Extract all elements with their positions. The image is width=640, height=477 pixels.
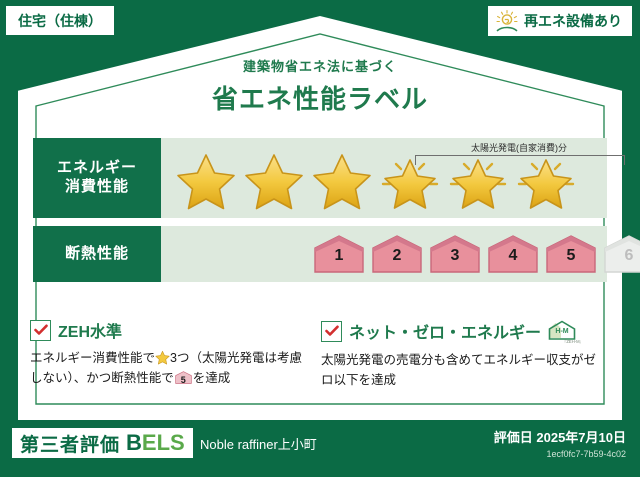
criterion-net-zero-header: ネット・ゼロ・エネルギー H-M 『ZEH-M』 <box>321 318 602 344</box>
criterion-zeh-title: ZEH水準 <box>58 318 122 342</box>
insulation-levels-body: 1 2 3 <box>161 226 640 282</box>
insulation-label-line1: 断熱性能 <box>65 245 129 264</box>
energy-performance-row: エネルギー 消費性能 太陽光発電(自家消費)分 <box>33 138 607 218</box>
insulation-level-badge: 2 <box>371 234 423 274</box>
check-icon <box>30 320 51 341</box>
energy-performance-label-box: エネルギー 消費性能 <box>33 138 161 218</box>
star-filled <box>243 151 305 211</box>
insulation-level-number: 1 <box>313 247 365 265</box>
energy-stars-body: 太陽光発電(自家消費)分 <box>161 138 607 218</box>
bels-els: ELS <box>142 430 185 455</box>
evaluation-date-label: 評価日 <box>494 430 533 445</box>
third-party-label: 第三者評価 <box>20 430 120 457</box>
criterion-zeh-text-pre: エネルギー消費性能で <box>30 351 155 365</box>
criterion-net-zero-title: ネット・ゼロ・エネルギー <box>349 319 541 343</box>
inline-badge-value: 5 <box>175 373 192 388</box>
check-icon <box>321 321 342 342</box>
criterion-zeh-header: ZEH水準 <box>30 318 311 342</box>
building-name: Noble raffiner上小町 <box>200 434 317 453</box>
inline-insulation-badge: 5 <box>175 370 192 385</box>
insulation-level-number: 4 <box>487 247 539 265</box>
evaluation-date-value: 2025年7月10日 <box>536 430 626 445</box>
insulation-level-badge: 6 <box>603 234 640 274</box>
title-main: 省エネ性能ラベル <box>0 79 640 116</box>
criterion-net-zero-body: 太陽光発電の売電分も含めてエネルギー収支がゼロ以下を達成 <box>321 350 602 391</box>
star-rating <box>161 151 577 211</box>
insulation-level-badge: 5 <box>545 234 597 274</box>
bels-wordmark: BELS <box>126 430 185 456</box>
renewable-badge-label: 再エネ設備あり <box>524 11 622 31</box>
evaluation-date: 評価日 2025年7月10日 <box>494 427 626 446</box>
footer-bar: 第三者評価 BELS Noble raffiner上小町 評価日 2025年7月… <box>0 420 640 477</box>
insulation-level-badge: 1 <box>313 234 365 274</box>
insulation-level-number: 3 <box>429 247 481 265</box>
category-tag: 住宅（住棟） <box>6 6 114 35</box>
energy-label-line2: 消費性能 <box>65 178 129 197</box>
sun-icon <box>494 9 520 33</box>
bels-logo: 第三者評価 BELS <box>12 428 193 458</box>
energy-performance-label: 住宅（住棟） 再エネ設備あり 建築物省エネ法に基づく <box>0 0 640 477</box>
criterion-zeh-text-post: を達成 <box>193 371 231 385</box>
zeh-m-house-icon: H-M 『ZEH-M』 <box>543 318 581 344</box>
svg-text:『ZEH-M』: 『ZEH-M』 <box>562 338 581 344</box>
title-subtitle: 建築物省エネ法に基づく <box>0 56 640 75</box>
insulation-level-scale: 1 2 3 <box>161 234 640 274</box>
insulation-level-badge: 4 <box>487 234 539 274</box>
renewable-equipment-badge: 再エネ設備あり <box>488 6 632 36</box>
inline-star-icon <box>155 350 170 365</box>
svg-text:H-M: H-M <box>555 328 568 335</box>
star-solar <box>515 151 577 211</box>
title-block: 建築物省エネ法に基づく 省エネ性能ラベル <box>0 56 640 116</box>
criterion-zeh-body: エネルギー消費性能で3つ（太陽光発電は考慮しない）、かつ断熱性能で5を達成 <box>30 348 311 389</box>
star-filled <box>175 151 237 211</box>
bels-b: B <box>126 430 142 455</box>
criterion-net-zero: ネット・ゼロ・エネルギー H-M 『ZEH-M』 太陽光発電の売電分も含めてエネ… <box>321 318 612 391</box>
insulation-level-number: 5 <box>545 247 597 265</box>
criteria-section: ZEH水準 エネルギー消費性能で3つ（太陽光発電は考慮しない）、かつ断熱性能で5… <box>30 318 612 391</box>
insulation-level-number: 6 <box>603 247 640 265</box>
insulation-level-number: 2 <box>371 247 423 265</box>
criterion-zeh: ZEH水準 エネルギー消費性能で3つ（太陽光発電は考慮しない）、かつ断熱性能で5… <box>30 318 321 391</box>
evaluation-info: 評価日 2025年7月10日 1ecf0fc7-7b59-4c02 <box>494 427 626 459</box>
star-solar <box>447 151 509 211</box>
insulation-performance-label-box: 断熱性能 <box>33 226 161 282</box>
insulation-level-badge: 3 <box>429 234 481 274</box>
star-solar <box>379 151 441 211</box>
star-filled <box>311 151 373 211</box>
insulation-performance-row: 断熱性能 1 2 <box>33 226 607 282</box>
category-tag-label: 住宅（住棟） <box>18 11 102 31</box>
energy-label-line1: エネルギー <box>57 159 137 178</box>
evaluation-id: 1ecf0fc7-7b59-4c02 <box>494 449 626 459</box>
rating-rows: エネルギー 消費性能 太陽光発電(自家消費)分 <box>33 138 607 290</box>
